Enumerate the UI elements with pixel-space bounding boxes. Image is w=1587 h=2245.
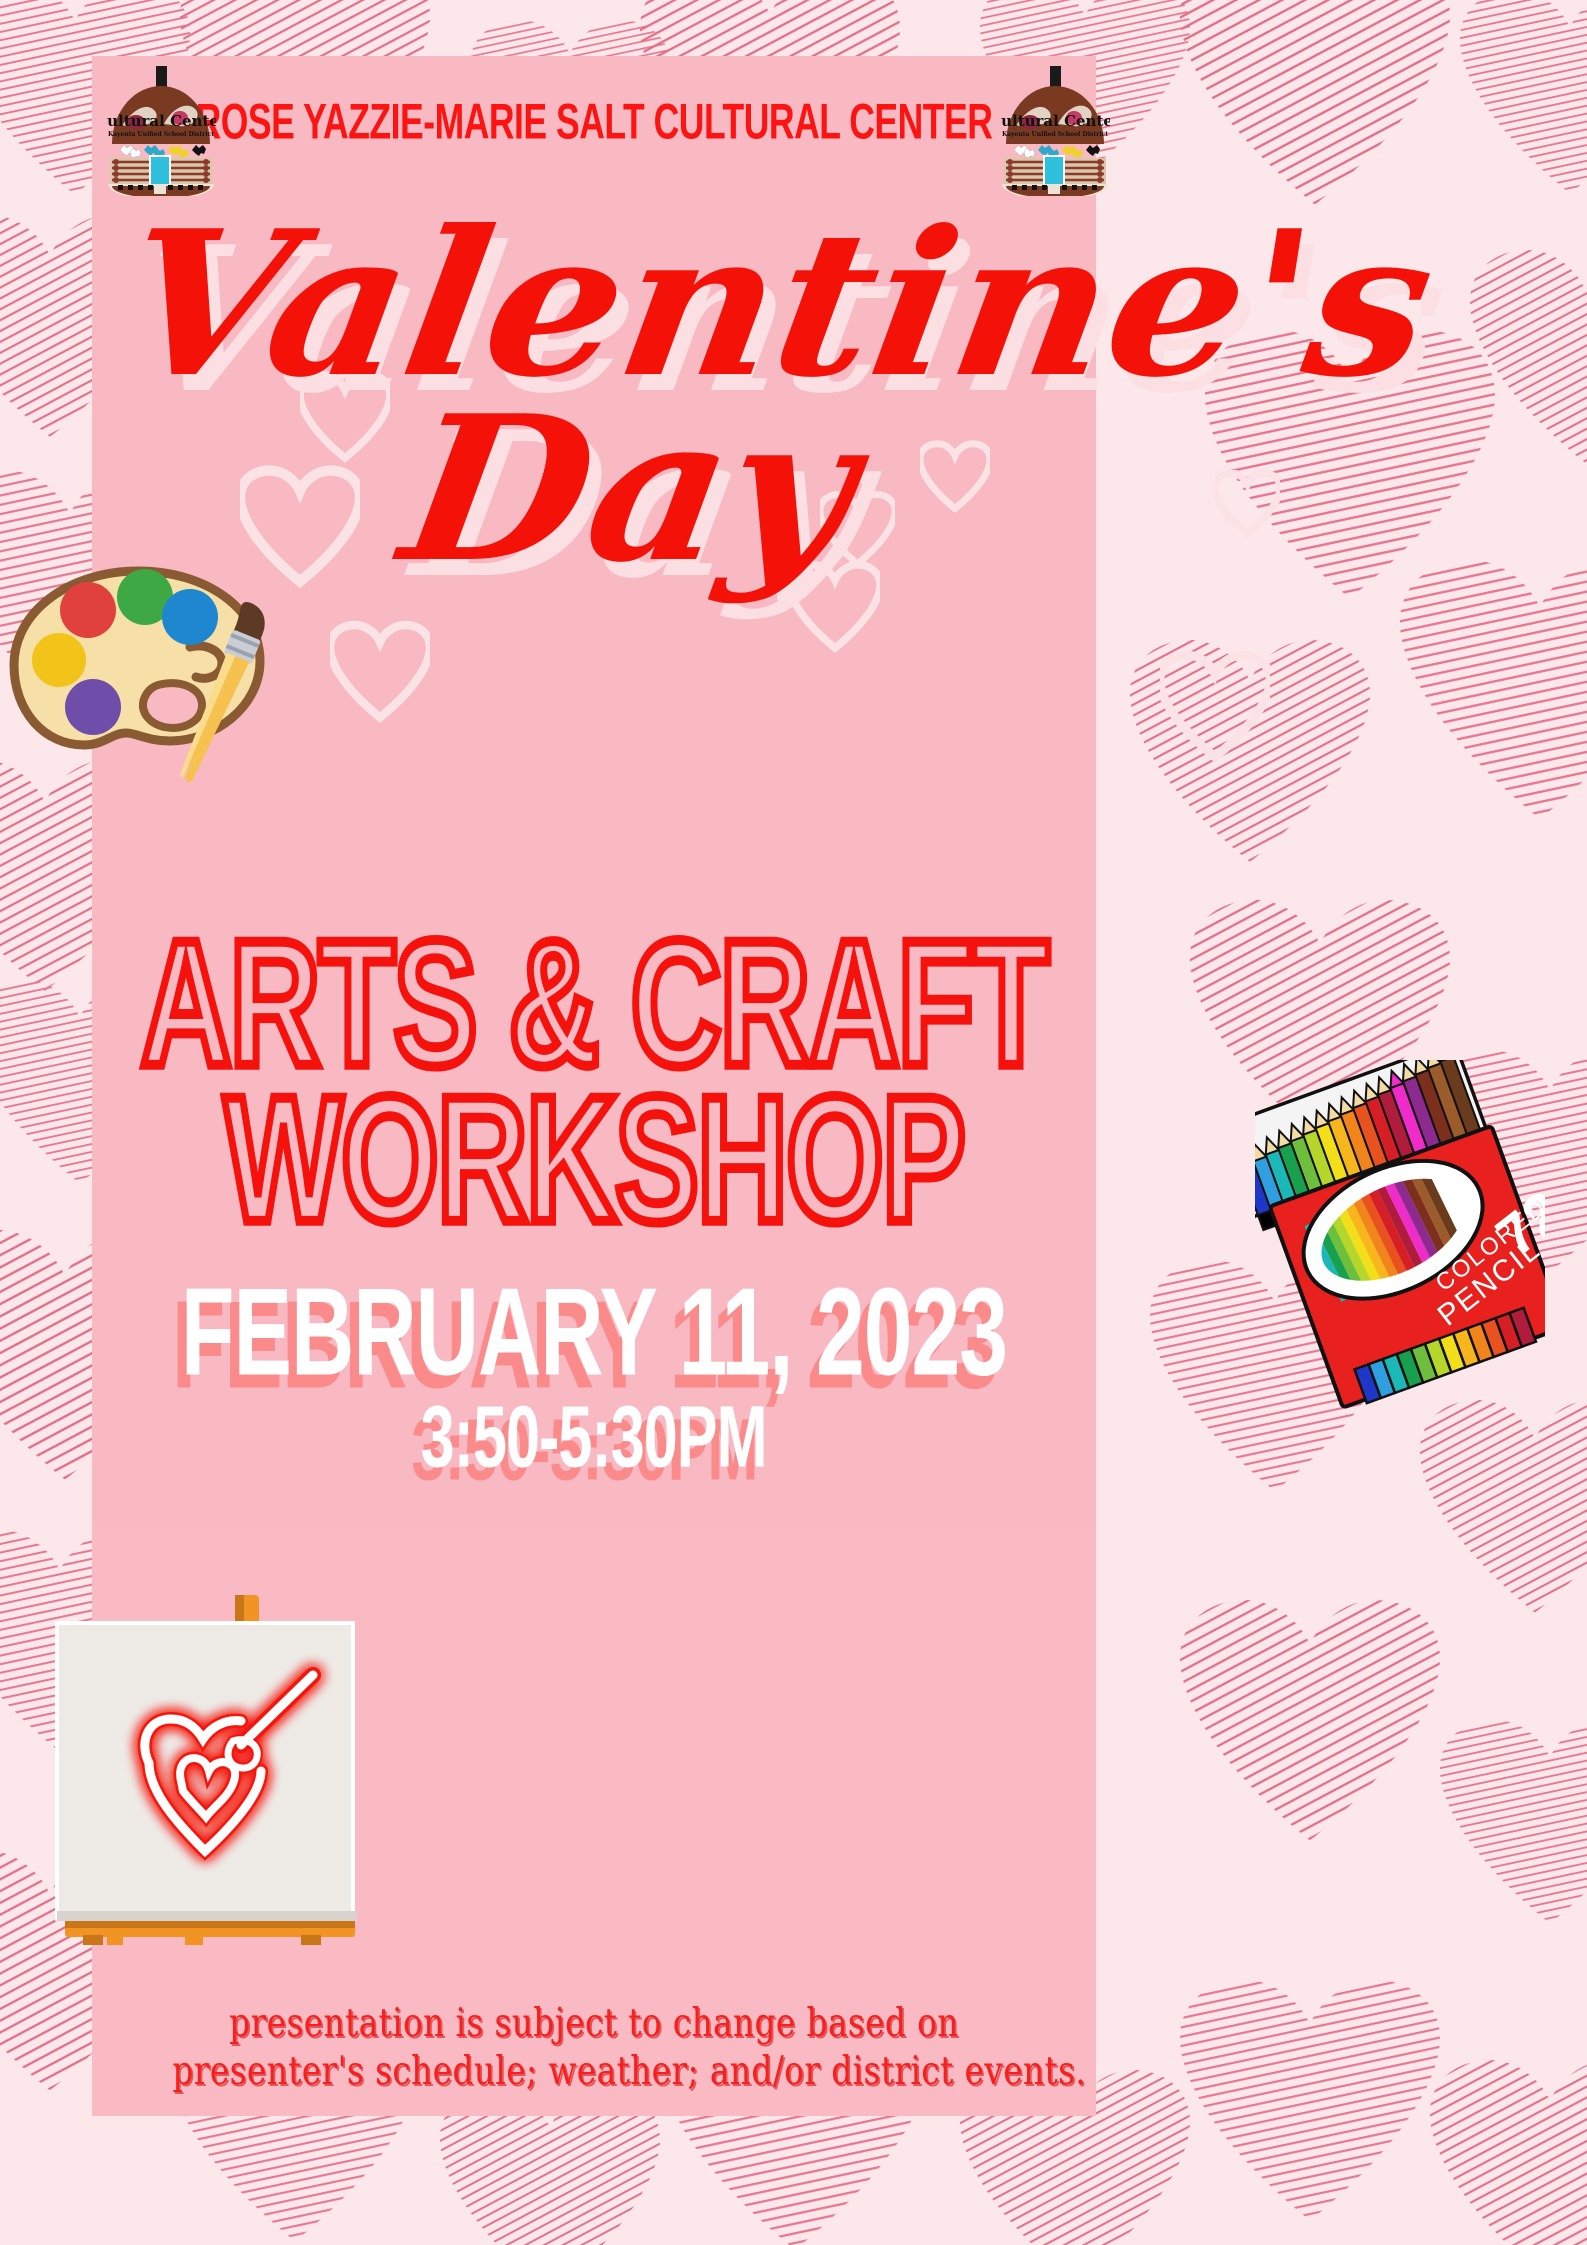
cultural-center-logo-left: Cultural Center Kayenta Unified School D… [106, 66, 216, 196]
colored-pencil-box-illustration: COLORED PENCIL 72 [1255, 1060, 1545, 1420]
svg-text:Cultural Center: Cultural Center [1000, 112, 1110, 130]
svg-text:Kayenta Unified School Distric: Kayenta Unified School District [108, 131, 214, 138]
svg-text:Cultural Center: Cultural Center [106, 112, 216, 130]
disclaimer-line-2: presenter's schedule; weather; and/or di… [172, 2048, 1015, 2096]
event-date-text: FEBRUARY 11, 2023 [181, 1263, 1007, 1402]
svg-text:Kayenta Unified School Distric: Kayenta Unified School District [1002, 131, 1108, 138]
disclaimer-group: presentation is subject to change based … [92, 2000, 1096, 2097]
event-time: 3:50-5:30PM 3:50-5:30PM [421, 1394, 767, 1481]
white-heart-decoration [1160, 650, 1270, 765]
event-datetime-group: FEBRUARY 11, 2023 FEBRUARY 11, 2023 3:50… [92, 1270, 1096, 1454]
poster-header: ROSE YAZZIE-MARIE SALT CULTURAL CENTER [92, 56, 1096, 186]
white-heart-decoration [920, 440, 990, 514]
organization-title: ROSE YAZZIE-MARIE SALT CULTURAL CENTER [196, 96, 993, 146]
paintbrush-icon [165, 595, 275, 795]
valentines-workshop-poster: ROSE YAZZIE-MARIE SALT CULTURAL CENTER C… [0, 0, 1587, 2245]
white-heart-decoration [300, 370, 390, 465]
disclaimer-line-1: presentation is subject to change based … [172, 2000, 1015, 2048]
cultural-center-logo-right: Cultural Center Kayenta Unified School D… [1000, 66, 1110, 196]
white-heart-decoration [820, 490, 895, 570]
white-heart-decoration [790, 560, 880, 655]
white-heart-decoration [330, 620, 430, 725]
subheadline-group: ARTS & CRAFT WORKSHOP [92, 920, 1096, 1170]
event-time-text: 3:50-5:30PM [421, 1388, 767, 1485]
subheadline-line-2: WORKSHOP [92, 1076, 1096, 1244]
easel-illustration [55, 1595, 415, 1945]
white-heart-decoration [1215, 470, 1280, 538]
event-date: FEBRUARY 11, 2023 FEBRUARY 11, 2023 [181, 1270, 1007, 1395]
